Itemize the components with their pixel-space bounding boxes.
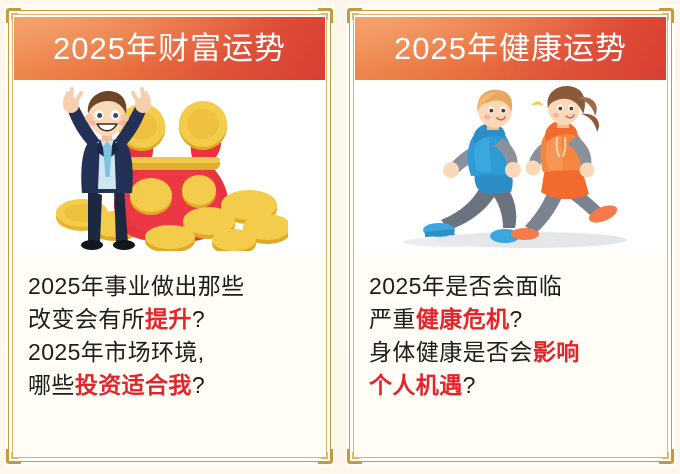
plain-phrase: 严重 <box>369 306 416 332</box>
man-and-woman-jogging-icon <box>391 84 631 252</box>
text-line: 身体健康是否会影响 <box>369 336 665 369</box>
plain-phrase: 改变会有所 <box>28 306 145 332</box>
text-line: 2025年市场环境, <box>28 336 324 369</box>
fortune-cards-stage: 2025年财富运势 <box>0 0 680 474</box>
card-text-health: 2025年是否会面临 严重健康危机? 身体健康是否会影响 个人机遇? <box>356 260 665 454</box>
card-text-wealth: 2025年事业做出那些 改变会有所提升? 2025年市场环境, 哪些投资适合我? <box>15 260 324 454</box>
text-line: 严重健康危机? <box>369 303 665 336</box>
card-title-health: 2025年健康运势 <box>394 33 627 64</box>
card-health[interactable]: 2025年健康运势 <box>346 4 675 468</box>
card-header-band-wealth: 2025年财富运势 <box>14 17 325 80</box>
card-title-wealth: 2025年财富运势 <box>53 33 286 64</box>
plain-phrase: ? <box>463 372 476 398</box>
text-line: 改变会有所提升? <box>28 303 324 336</box>
plain-phrase: 身体健康是否会 <box>369 339 533 365</box>
highlighted-phrase: 影响 <box>533 339 580 365</box>
plain-phrase: ? <box>192 306 205 332</box>
text-line: 个人机遇? <box>369 369 665 402</box>
plain-phrase: 哪些 <box>28 372 75 398</box>
highlighted-phrase: 健康危机 <box>416 306 510 332</box>
highlighted-phrase: 提升 <box>145 306 192 332</box>
text-line: 哪些投资适合我? <box>28 369 324 402</box>
plain-phrase: ? <box>192 372 205 398</box>
plain-phrase: 2025年市场环境, <box>28 339 205 365</box>
illustration-businessman-money-bag <box>15 82 324 254</box>
plain-phrase: 2025年是否会面临 <box>369 273 562 299</box>
plain-phrase: 2025年事业做出那些 <box>28 273 245 299</box>
card-header-band-health: 2025年健康运势 <box>355 17 666 80</box>
card-wealth[interactable]: 2025年财富运势 <box>5 4 334 468</box>
plain-phrase: ? <box>509 306 522 332</box>
illustration-joggers <box>356 82 665 254</box>
highlighted-phrase: 个人机遇 <box>369 372 463 398</box>
businessman-with-money-bag-and-gold-coins-icon <box>52 85 288 251</box>
text-line: 2025年是否会面临 <box>369 270 665 303</box>
highlighted-phrase: 投资适合我 <box>75 372 192 398</box>
text-line: 2025年事业做出那些 <box>28 270 324 303</box>
